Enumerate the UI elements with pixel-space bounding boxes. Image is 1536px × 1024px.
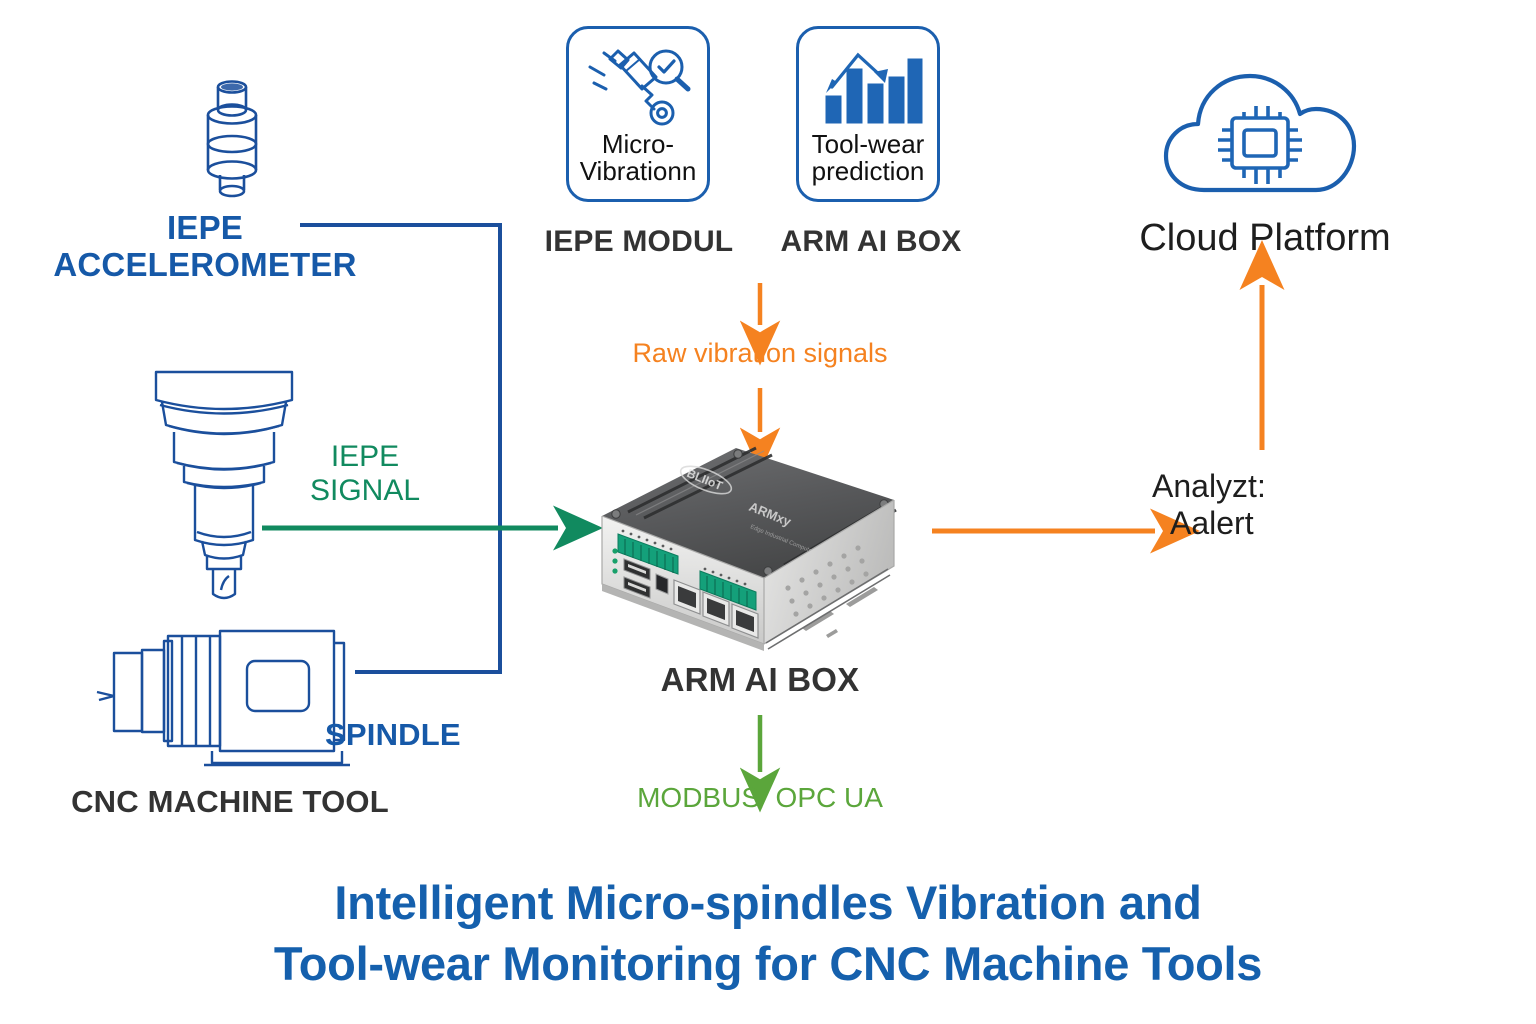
- cloud-platform-label: Cloud Platform: [1110, 216, 1420, 260]
- page-title: Intelligent Micro-spindles Vibration and…: [0, 872, 1536, 994]
- iepe-modul-caption: Micro- Vibrationn: [580, 131, 697, 186]
- arm-ai-box-caption-line1: Tool-wear: [812, 131, 925, 158]
- arm-ai-box-card[interactable]: Tool-wear prediction: [796, 26, 940, 202]
- analysis-line2: Aalert: [1152, 505, 1382, 542]
- accelerometer-label: IEPE ACCELEROMETER: [30, 210, 380, 284]
- title-line-2: Tool-wear Monitoring for CNC Machine Too…: [0, 933, 1536, 994]
- spindle-label: SPINDLE: [325, 718, 555, 753]
- arm-ai-box-hardware: BLIIoT ARMxy Edge Industrial Computer: [588, 438, 908, 676]
- iepe-signal-line2: SIGNAL: [280, 474, 450, 508]
- iepe-signal-label: IEPE SIGNAL: [280, 440, 450, 508]
- fieldbus-label: MODBUS/ OPC UA: [590, 782, 930, 814]
- cnc-machine-label: CNC MACHINE TOOL: [30, 785, 430, 820]
- accelerometer-label-line1: IEPE: [30, 210, 380, 247]
- iepe-modul-caption-line1: Micro-: [580, 131, 697, 158]
- analysis-line1: Analyzt:: [1152, 468, 1382, 505]
- raw-vibration-signals-label: Raw vibration signals: [580, 338, 940, 369]
- iepe-modul-caption-line2: Vibrationn: [580, 158, 697, 185]
- micro-vibration-sensor-icon: [582, 39, 694, 127]
- accelerometer-label-line2: ACCELEROMETER: [30, 247, 380, 284]
- title-line-1: Intelligent Micro-spindles Vibration and: [0, 872, 1536, 933]
- arm-ai-box-card-label: ARM AI BOX: [768, 225, 974, 259]
- arm-ai-box-device-label: ARM AI BOX: [590, 662, 930, 699]
- analysis-label: Analyzt: Aalert: [1152, 468, 1382, 542]
- arm-ai-box-caption: Tool-wear prediction: [812, 131, 925, 186]
- cloud-with-chip-icon: [1160, 62, 1370, 204]
- accelerometer-sensor-icon: [186, 74, 278, 206]
- iepe-signal-line1: IEPE: [280, 440, 450, 474]
- iepe-modul-label: IEPE MODUL: [536, 225, 742, 259]
- tool-wear-bar-chart-icon: [812, 39, 924, 127]
- arm-ai-box-caption-line2: prediction: [812, 158, 925, 185]
- iepe-modul-card[interactable]: Micro- Vibrationn: [566, 26, 710, 202]
- diagram-canvas: IEPE ACCELEROMETER: [0, 0, 1536, 1024]
